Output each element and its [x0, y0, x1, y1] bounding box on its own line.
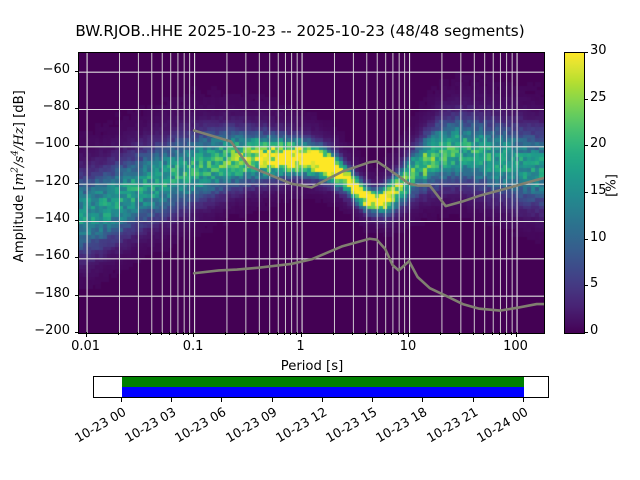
x-tick-mark-minor [333, 332, 334, 335]
y-tick-label: −180 [10, 286, 70, 301]
colorbar-tick-label: 25 [590, 90, 607, 105]
y-axis-label: Amplitude [m2/s4/Hz] [dB] [11, 71, 27, 281]
x-tick-mark-minor [492, 332, 493, 335]
ppsd-plot-area [78, 52, 545, 334]
y-tick-mark [75, 183, 79, 184]
colorbar-tick-mark [584, 192, 588, 193]
x-tick-mark-minor [440, 332, 441, 335]
x-tick-mark-minor [161, 332, 162, 335]
y-tick-mark [75, 108, 79, 109]
colorbar [564, 52, 585, 334]
x-tick-mark-minor [365, 332, 366, 335]
x-tick-mark-minor [225, 332, 226, 335]
colorbar-tick-mark [584, 52, 588, 53]
x-tick-mark-minor [511, 332, 512, 335]
colorbar-tick-mark [584, 99, 588, 100]
coverage-tick-mark [473, 398, 474, 402]
x-tick-label: 10 [368, 339, 448, 354]
x-tick-mark-minor [391, 332, 392, 335]
x-tick-mark-minor [284, 332, 285, 335]
coverage-tick-mark [372, 398, 373, 402]
colorbar-tick-label: 5 [590, 276, 598, 291]
page-title: BW.RJOB..HHE 2025-10-23 -- 2025-10-23 (4… [0, 22, 600, 40]
noise-model-curves [79, 53, 544, 333]
y-tick-mark [75, 71, 79, 72]
y-axis-label-text: Amplitude [m2/s4/Hz] [dB] [12, 90, 27, 262]
x-axis-label: Period [s] [232, 359, 392, 374]
y-tick-mark [75, 257, 79, 258]
x-tick-mark-minor [290, 332, 291, 335]
x-tick-mark-major [193, 332, 194, 337]
x-tick-mark-major [301, 332, 302, 337]
x-tick-mark-minor [296, 332, 297, 335]
x-tick-mark-minor [352, 332, 353, 335]
noise-model-nlnm [194, 239, 544, 311]
coverage-tick-mark [121, 398, 122, 402]
coverage-tick-mark [322, 398, 323, 402]
y-tick-mark [75, 332, 79, 333]
colorbar-label: [%] [605, 146, 620, 226]
x-tick-label: 100 [476, 339, 556, 354]
x-tick-mark-major [516, 332, 517, 337]
x-tick-mark-minor [483, 332, 484, 335]
colorbar-tick-mark [584, 285, 588, 286]
x-tick-mark-major [408, 332, 409, 337]
x-tick-mark-minor [473, 332, 474, 335]
colorbar-gradient [565, 53, 584, 333]
colorbar-tick-label: 30 [590, 43, 607, 58]
x-tick-mark-major [86, 332, 87, 337]
x-tick-mark-minor [176, 332, 177, 335]
x-tick-mark-minor [188, 332, 189, 335]
data-coverage-bar [93, 376, 549, 398]
coverage-tick-mark [221, 398, 222, 402]
x-tick-label: 0.1 [153, 339, 233, 354]
x-tick-mark-minor [258, 332, 259, 335]
x-tick-mark-minor [169, 332, 170, 335]
x-tick-mark-minor [244, 332, 245, 335]
x-tick-mark-minor [499, 332, 500, 335]
coverage-tick-mark [272, 398, 273, 402]
x-tick-mark-minor [398, 332, 399, 335]
x-tick-mark-minor [459, 332, 460, 335]
x-tick-mark-minor [183, 332, 184, 335]
colorbar-tick-mark [584, 239, 588, 240]
x-tick-mark-minor [268, 332, 269, 335]
x-tick-mark-minor [150, 332, 151, 335]
colorbar-tick-mark [584, 332, 588, 333]
colorbar-tick-mark [584, 145, 588, 146]
coverage-band-bottom [122, 387, 524, 397]
x-tick-mark-minor [277, 332, 278, 335]
coverage-tick-mark [171, 398, 172, 402]
y-tick-mark [75, 145, 79, 146]
coverage-tick-mark [523, 398, 524, 402]
noise-model-nhnm [194, 130, 544, 206]
y-tick-mark [75, 220, 79, 221]
x-tick-mark-minor [376, 332, 377, 335]
x-tick-mark-minor [118, 332, 119, 335]
x-tick-label: 1 [261, 339, 341, 354]
x-tick-mark-minor [137, 332, 138, 335]
x-tick-mark-minor [403, 332, 404, 335]
ppsd-figure: BW.RJOB..HHE 2025-10-23 -- 2025-10-23 (4… [0, 0, 640, 480]
x-tick-mark-minor [384, 332, 385, 335]
x-tick-label: 0.01 [46, 339, 126, 354]
y-tick-label: −200 [10, 323, 70, 338]
colorbar-tick-label: 10 [590, 230, 607, 245]
colorbar-tick-label: 0 [590, 323, 598, 338]
y-tick-mark [75, 295, 79, 296]
coverage-tick-mark [422, 398, 423, 402]
x-tick-mark-minor [505, 332, 506, 335]
coverage-band-top [122, 377, 524, 387]
